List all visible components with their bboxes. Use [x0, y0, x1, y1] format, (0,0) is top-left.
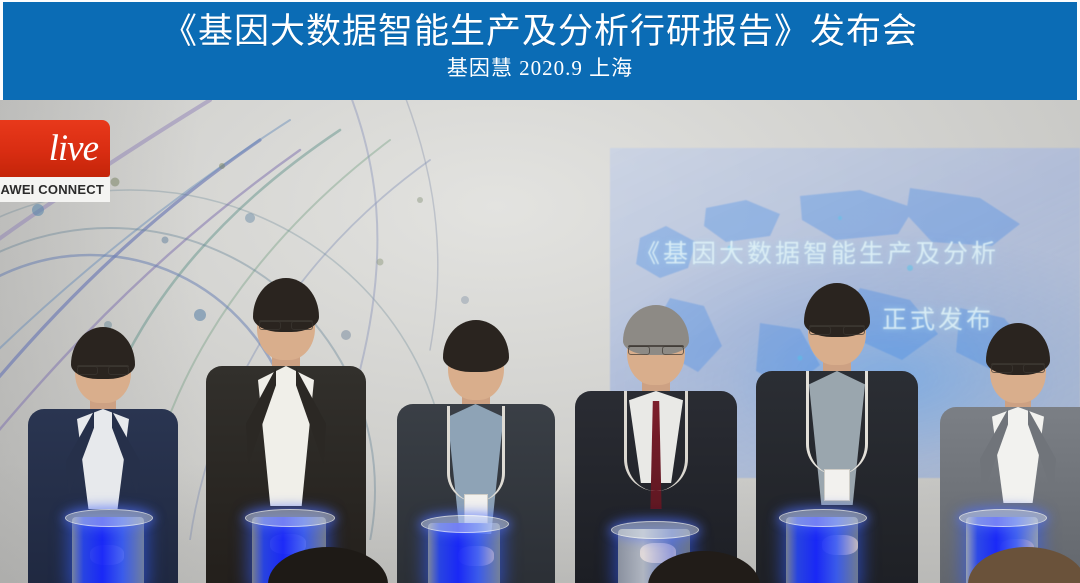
- person-3-hair: [443, 320, 509, 372]
- person-5-lanyard: [806, 371, 868, 475]
- podium-3-rim: [421, 515, 509, 533]
- podium-1: [72, 509, 144, 583]
- podium-6-rim: [959, 509, 1047, 527]
- projection-headline: 《基因大数据智能生产及分析: [635, 234, 999, 270]
- podium-4-rim: [611, 521, 699, 539]
- podium-5: [786, 509, 858, 583]
- live-caption-bar: HUAWEI CONNECT: [0, 177, 110, 202]
- person-5-glasses: [809, 325, 865, 337]
- huawei-connect-label: HUAWEI CONNECT: [0, 182, 104, 197]
- slide-title-banner: 《基因大数据智能生产及分析行研报告》发布会 基因慧 2020.9 上海: [0, 0, 1080, 100]
- live-label: live: [49, 130, 98, 167]
- person-5-badge: [824, 469, 850, 501]
- podium-1-rim: [65, 509, 153, 527]
- page-subtitle: 基因慧 2020.9 上海: [447, 55, 633, 82]
- huawei-connect-live-logo: live HUAWEI CONNECT: [0, 120, 110, 202]
- person-1-glasses: [77, 365, 129, 377]
- event-photo: 《基因大数据智能生产及分析 正式发布 live HUAWEI CONNECT: [0, 100, 1080, 583]
- person-6-glasses: [991, 363, 1045, 375]
- person-4-glasses: [628, 345, 684, 357]
- podium-2-rim: [245, 509, 336, 527]
- podium-5-rim: [779, 509, 867, 527]
- page-title: 《基因大数据智能生产及分析行研报告》发布会: [162, 10, 918, 54]
- person-4-lanyard: [624, 391, 688, 491]
- live-badge: live: [0, 120, 110, 177]
- presentation-slide: 《基因大数据智能生产及分析行研报告》发布会 基因慧 2020.9 上海: [0, 0, 1080, 583]
- person-3-lanyard: [447, 406, 505, 502]
- podium-3: [428, 515, 500, 583]
- person-2-glasses: [259, 320, 313, 332]
